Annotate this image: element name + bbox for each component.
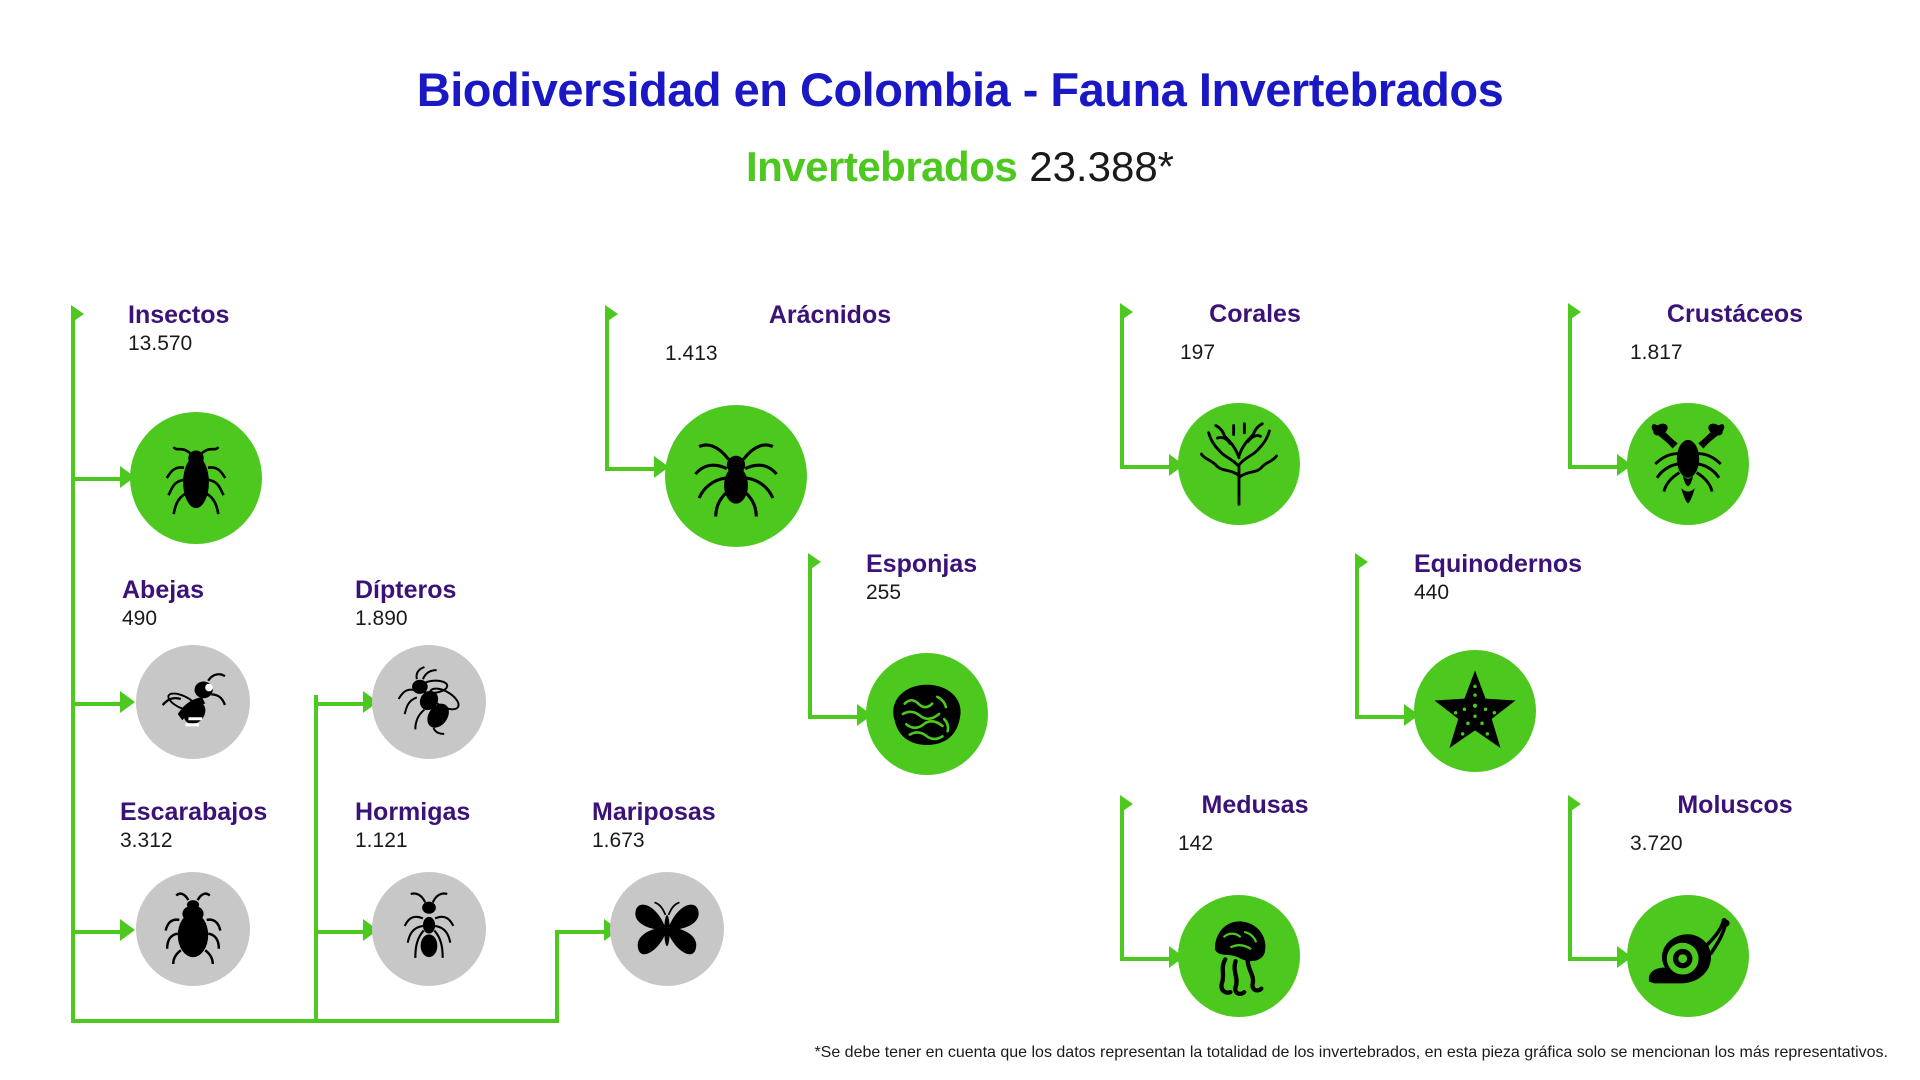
node-corales-value-wrap: 197: [1180, 337, 1215, 366]
icon-circle-corales[interactable]: [1178, 403, 1300, 525]
node-abejas-value: 490: [122, 606, 204, 632]
node-mariposas-label: Mariposas: [592, 800, 716, 825]
node-moluscos-value: 3.720: [1630, 831, 1683, 857]
connector-equinodernos-trunk: [1355, 561, 1359, 719]
connector-dipteros-trunk: [314, 695, 318, 1023]
icon-circle-aracnidos[interactable]: [665, 405, 807, 547]
page-title: Biodiversidad en Colombia - Fauna Invert…: [0, 62, 1920, 117]
node-esponjas-label: Esponjas: [866, 552, 977, 577]
icon-circle-crustaceos[interactable]: [1627, 403, 1749, 525]
connector-medusas-trunk: [1120, 803, 1124, 961]
node-mariposas[interactable]: Mariposas 1.673: [592, 800, 716, 854]
node-corales[interactable]: Corales: [1110, 302, 1400, 327]
node-escarabajos-value: 3.312: [120, 828, 267, 854]
jellyfish-icon: [1196, 913, 1282, 999]
node-equinodernos-label: Equinodernos: [1414, 552, 1582, 577]
arrow-escarabajos-icon: [120, 919, 135, 941]
icon-circle-medusas[interactable]: [1178, 895, 1300, 1017]
node-abejas[interactable]: Abejas 490: [122, 578, 204, 632]
connector-aracnidos-trunk: [605, 313, 609, 471]
connector-corales-trunk: [1120, 311, 1124, 469]
icon-circle-insectos[interactable]: [130, 412, 262, 544]
node-esponjas[interactable]: Esponjas 255: [866, 552, 977, 606]
connector-escarabajos-branch: [71, 930, 124, 934]
node-corales-value: 197: [1180, 340, 1215, 366]
connector-medusas-branch: [1120, 957, 1173, 961]
connector-esponjas-branch: [808, 715, 861, 719]
connector-mariposas-riser: [555, 930, 559, 1023]
icon-circle-abejas[interactable]: [136, 645, 250, 759]
node-hormigas-label: Hormigas: [355, 800, 470, 825]
node-escarabajos-label: Escarabajos: [120, 800, 267, 825]
icon-circle-mariposas[interactable]: [610, 872, 724, 986]
node-aracnidos-label: Arácnidos: [665, 303, 995, 328]
fly-icon: [391, 664, 467, 740]
lobster-icon: [1645, 419, 1731, 509]
icon-circle-escarabajos[interactable]: [136, 872, 250, 986]
node-moluscos-value-wrap: 3.720: [1630, 828, 1683, 857]
icon-circle-dipteros[interactable]: [372, 645, 486, 759]
spider-icon: [690, 430, 782, 522]
connector-hormigas-branch: [314, 930, 367, 934]
subtitle-label: Invertebrados: [746, 143, 1017, 190]
node-dipteros[interactable]: Dípteros 1.890: [355, 578, 456, 632]
node-equinodernos[interactable]: Equinodernos 440: [1414, 552, 1582, 606]
node-insectos-value: 13.570: [128, 331, 229, 357]
node-medusas-value-wrap: 142: [1178, 828, 1213, 857]
node-crustaceos-value-wrap: 1.817: [1630, 337, 1683, 366]
icon-circle-equinodernos[interactable]: [1414, 650, 1536, 772]
connector-mariposas-branch: [555, 930, 608, 934]
node-moluscos[interactable]: Moluscos: [1560, 793, 1910, 818]
node-dipteros-label: Dípteros: [355, 578, 456, 603]
connector-corales-branch: [1120, 465, 1173, 469]
connector-crustaceos-branch: [1568, 465, 1621, 469]
sponge-icon: [884, 674, 970, 754]
icon-circle-hormigas[interactable]: [372, 872, 486, 986]
node-aracnidos-value-wrap: 1.413: [665, 338, 718, 367]
butterfly-icon: [628, 890, 706, 968]
subtitle-value: 23.388*: [1029, 143, 1174, 190]
connector-moluscos-trunk: [1568, 803, 1572, 961]
connector-insectos-branch: [71, 477, 124, 481]
connector-abejas-branch: [71, 702, 124, 706]
node-medusas-label: Medusas: [1110, 793, 1400, 818]
beetle-icon: [153, 435, 239, 521]
node-hormigas-value: 1.121: [355, 828, 470, 854]
infographic-canvas: Biodiversidad en Colombia - Fauna Invert…: [0, 0, 1920, 1080]
node-esponjas-value: 255: [866, 580, 977, 606]
starfish-icon: [1431, 667, 1519, 755]
coral-icon: [1194, 422, 1284, 506]
snail-icon: [1642, 918, 1734, 994]
bee-icon: [155, 664, 231, 740]
node-medusas-value: 142: [1178, 831, 1213, 857]
connector-aracnidos-branch: [605, 467, 658, 471]
node-aracnidos-value: 1.413: [665, 341, 718, 367]
connector-esponjas-trunk: [808, 561, 812, 719]
node-mariposas-value: 1.673: [592, 828, 716, 854]
node-crustaceos[interactable]: Crustáceos: [1560, 302, 1910, 327]
ant-icon: [391, 891, 467, 967]
arrow-abejas-icon: [120, 691, 135, 713]
footnote: *Se debe tener en cuenta que los datos r…: [0, 1044, 1888, 1062]
connector-dipteros-branch: [314, 702, 367, 706]
node-hormigas[interactable]: Hormigas 1.121: [355, 800, 470, 854]
icon-circle-moluscos[interactable]: [1627, 895, 1749, 1017]
connector-insectos-trunk: [71, 313, 75, 1023]
node-medusas[interactable]: Medusas: [1110, 793, 1400, 818]
icon-circle-esponjas[interactable]: [866, 653, 988, 775]
node-moluscos-label: Moluscos: [1560, 793, 1910, 818]
node-escarabajos[interactable]: Escarabajos 3.312: [120, 800, 267, 854]
connector-crustaceos-trunk: [1568, 311, 1572, 469]
connector-equinodernos-branch: [1355, 715, 1408, 719]
scarab-icon: [155, 891, 231, 967]
node-insectos[interactable]: Insectos 13.570: [128, 303, 229, 357]
node-corales-label: Corales: [1110, 302, 1400, 327]
node-crustaceos-label: Crustáceos: [1560, 302, 1910, 327]
page-subtitle: Invertebrados23.388*: [0, 143, 1920, 191]
node-abejas-label: Abejas: [122, 578, 204, 603]
node-insectos-label: Insectos: [128, 303, 229, 328]
node-aracnidos[interactable]: Arácnidos: [665, 303, 995, 328]
node-dipteros-value: 1.890: [355, 606, 456, 632]
node-equinodernos-value: 440: [1414, 580, 1582, 606]
node-crustaceos-value: 1.817: [1630, 340, 1683, 366]
connector-moluscos-branch: [1568, 957, 1621, 961]
